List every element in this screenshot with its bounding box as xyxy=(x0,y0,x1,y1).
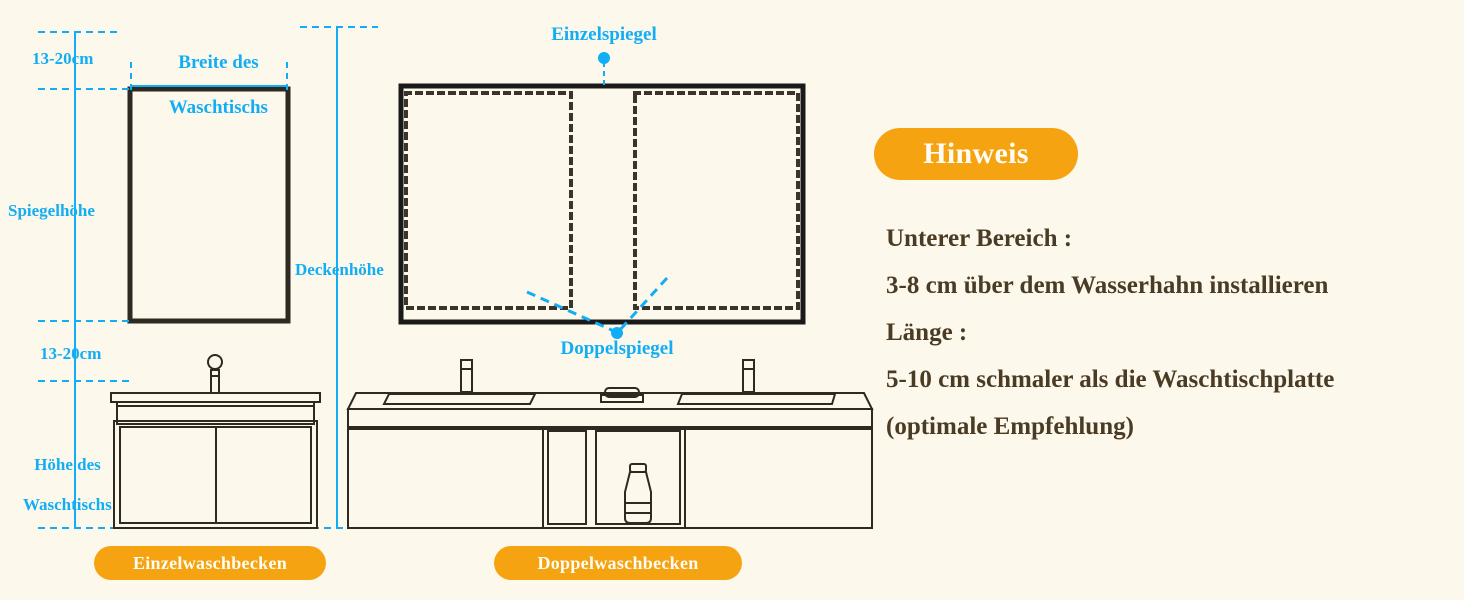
double-cabinet-body xyxy=(348,427,872,528)
vanity-height-line-1: Höhe des xyxy=(34,455,101,474)
single-mirror-leader-dot xyxy=(598,52,610,64)
dimension-label-vanity-height: Höhe des Waschtischs xyxy=(4,435,114,535)
single-vanity xyxy=(111,355,320,528)
double-faucet-right-body xyxy=(743,369,754,392)
double-shelf-narrow xyxy=(548,431,586,524)
mirror-width-line-2: Waschtischs xyxy=(169,97,268,118)
note-line-4: 5-10 cm schmaler als die Waschtischplatt… xyxy=(886,366,1334,394)
dimension-label-ceiling-height: Deckenhöhe xyxy=(295,260,384,280)
vanity-height-line-2: Waschtischs xyxy=(23,495,112,514)
callout-single-mirror: Einzelspiegel xyxy=(504,24,704,46)
double-sink-basin-left xyxy=(384,394,535,404)
mirror-width-line-1: Breite des xyxy=(178,52,258,73)
bottle-body xyxy=(625,472,651,523)
double-mirror-left-panel xyxy=(406,93,571,308)
double-shelf-wide xyxy=(596,431,680,524)
dimension-label-top-gap: 13-20cm xyxy=(32,49,93,69)
dimension-label-bottom-gap: 13-20cm xyxy=(40,344,101,364)
note-line-5: (optimale Empfehlung) xyxy=(886,413,1134,441)
callout-double-mirror: Doppelspiegel xyxy=(517,338,717,360)
single-faucet-body xyxy=(211,376,219,393)
hinweis-badge: Hinweis xyxy=(874,128,1078,180)
dimension-label-mirror-height: Spiegelhöhe xyxy=(8,201,95,221)
note-line-3: Länge : xyxy=(886,319,967,347)
double-faucet-left-body xyxy=(461,369,472,392)
single-faucet-head xyxy=(208,355,222,369)
note-line-2: 3-8 cm über dem Wasserhahn installieren xyxy=(886,272,1328,300)
note-line-1: Unterer Bereich : xyxy=(886,225,1072,253)
double-faucet-right-head xyxy=(743,360,754,369)
single-basin-badge: Einzelwaschbecken xyxy=(94,546,326,580)
double-mirror-leader-left xyxy=(527,292,616,332)
double-mirror-outline xyxy=(401,86,803,322)
double-mirror-right-panel xyxy=(635,93,798,308)
double-basin-badge: Doppelwaschbecken xyxy=(494,546,742,580)
double-faucet-left-head xyxy=(461,360,472,369)
single-countertop xyxy=(111,393,320,402)
double-vanity xyxy=(348,360,872,528)
bathroom-mirror-dimension-diagram: 13-20cm 13-20cm Spiegelhöhe Höhe des Was… xyxy=(0,0,1464,600)
dimension-label-mirror-width: Breite des Waschtischs xyxy=(124,30,294,142)
double-sink-basin-right xyxy=(678,394,835,404)
bottle-cap xyxy=(630,464,646,472)
